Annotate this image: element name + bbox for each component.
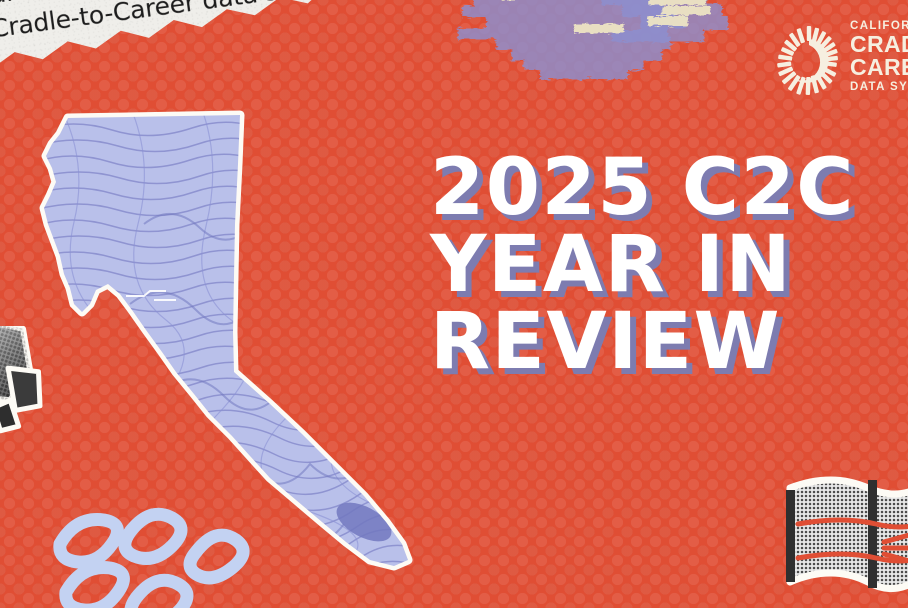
poster-canvas: CALIFORNIA CRADLE-TO- CAREER DATA SYSTEM… (0, 0, 908, 608)
purple-brush-scribble (452, 0, 752, 90)
title-line-2: YEAR IN (430, 227, 908, 304)
logo-line-3: CAREER (850, 56, 908, 79)
hands-book-halftone (772, 454, 908, 608)
megaphone-halftone (0, 326, 70, 438)
title-line-3: REVIEW (430, 304, 908, 381)
logo-line-2: CRADLE-TO- (850, 33, 908, 56)
logo-wordmark: CALIFORNIA CRADLE-TO- CAREER DATA SYSTEM (850, 20, 908, 93)
page-title: 2025 C2C YEAR IN REVIEW (430, 150, 908, 382)
title-line-1: 2025 C2C (430, 150, 908, 227)
newspaper-clipping: ATA SYS ia launches first phase of long … (0, 0, 467, 85)
blue-loop-doodles (52, 496, 260, 608)
logo-line-4: DATA SYSTEM (850, 81, 908, 93)
c2c-logo[interactable]: CALIFORNIA CRADLE-TO- CAREER DATA SYSTEM (770, 14, 908, 110)
sunburst-spiral-mark (770, 22, 848, 100)
